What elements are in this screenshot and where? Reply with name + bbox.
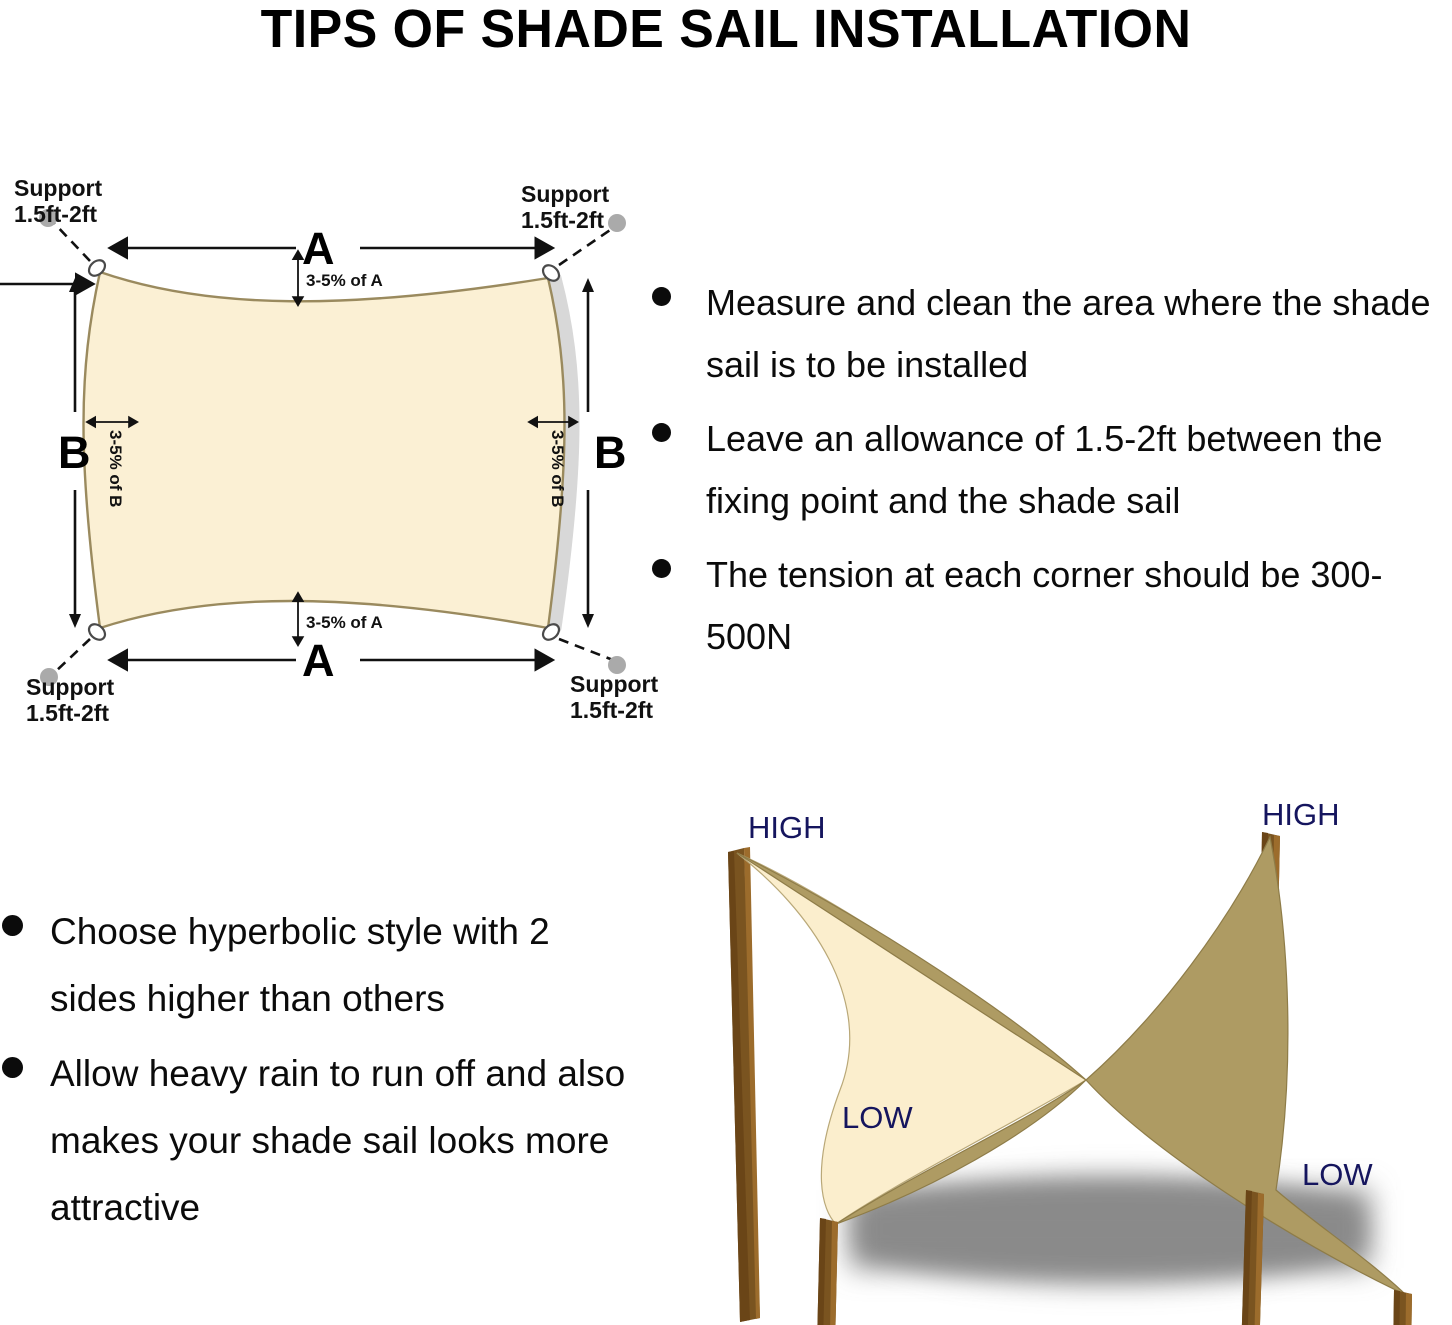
label-high-left: HIGH bbox=[748, 810, 826, 845]
bullet-icon bbox=[2, 1057, 23, 1078]
hyperbolic-tips-list: Choose hyperbolic style with 2 sides hig… bbox=[2, 898, 632, 1249]
support-label-top-left: Support 1.5ft-2ft bbox=[14, 175, 102, 227]
svg-text:3-5% of B: 3-5% of B bbox=[548, 430, 567, 507]
svg-text:1.5ft-2ft: 1.5ft-2ft bbox=[570, 697, 653, 723]
support-label-bottom-left: Support 1.5ft-2ft bbox=[26, 674, 114, 726]
bullet-icon bbox=[2, 915, 23, 936]
infographic-page: TIPS OF SHADE SAIL INSTALLATION bbox=[0, 0, 1452, 1325]
list-item-text: The tension at each corner should be 300… bbox=[652, 544, 1452, 668]
list-item: Measure and clean the area where the sha… bbox=[652, 272, 1452, 396]
bullet-icon bbox=[652, 559, 671, 578]
list-item-text: Choose hyperbolic style with 2 sides hig… bbox=[2, 898, 632, 1032]
list-item-text: Measure and clean the area where the sha… bbox=[652, 272, 1452, 396]
post-low-right bbox=[1390, 1290, 1412, 1325]
list-item: The tension at each corner should be 300… bbox=[652, 544, 1452, 668]
svg-text:B: B bbox=[594, 427, 627, 478]
dimension-b-right: B bbox=[582, 278, 627, 628]
svg-text:3-5% of B: 3-5% of B bbox=[106, 430, 125, 507]
bullet-icon bbox=[652, 423, 671, 442]
support-label-top-right: Support 1.5ft-2ft bbox=[521, 181, 609, 233]
svg-text:Support: Support bbox=[14, 175, 102, 201]
list-item: Choose hyperbolic style with 2 sides hig… bbox=[2, 898, 632, 1032]
post-high-left bbox=[728, 847, 760, 1322]
svg-text:A: A bbox=[302, 223, 335, 274]
svg-text:1.5ft-2ft: 1.5ft-2ft bbox=[521, 207, 604, 233]
dimension-a-top: A bbox=[128, 223, 537, 274]
hyperbolic-shade-sail-illustration: HIGH HIGH LOW LOW bbox=[690, 790, 1452, 1325]
sail-body bbox=[84, 272, 565, 628]
svg-text:A: A bbox=[302, 635, 335, 686]
svg-text:3-5% of A: 3-5% of A bbox=[306, 613, 383, 632]
post-low-left bbox=[816, 1218, 838, 1325]
svg-text:Support: Support bbox=[570, 671, 658, 697]
list-item: Allow heavy rain to run off and also mak… bbox=[2, 1040, 632, 1241]
svg-text:3-5% of A: 3-5% of A bbox=[306, 271, 383, 290]
svg-text:Support: Support bbox=[26, 674, 114, 700]
tolerance-a-bottom: 3-5% of A bbox=[298, 602, 383, 638]
svg-text:B: B bbox=[58, 427, 91, 478]
bullet-icon bbox=[652, 287, 671, 306]
list-item-text: Allow heavy rain to run off and also mak… bbox=[2, 1040, 632, 1241]
label-low-right: LOW bbox=[1302, 1157, 1373, 1192]
svg-text:Support: Support bbox=[521, 181, 609, 207]
dimension-a-bottom: A bbox=[128, 635, 537, 686]
list-item-text: Leave an allowance of 1.5-2ft between th… bbox=[652, 408, 1452, 532]
label-low-left: LOW bbox=[842, 1100, 913, 1135]
list-item: Leave an allowance of 1.5-2ft between th… bbox=[652, 408, 1452, 532]
svg-text:1.5ft-2ft: 1.5ft-2ft bbox=[26, 700, 109, 726]
dimension-b-left: B bbox=[0, 278, 91, 628]
support-label-bottom-right: Support 1.5ft-2ft bbox=[570, 671, 658, 723]
svg-text:1.5ft-2ft: 1.5ft-2ft bbox=[14, 201, 97, 227]
shade-sail-dimension-diagram: Support 1.5ft-2ft Support 1.5ft-2ft Supp… bbox=[0, 160, 660, 740]
page-title: TIPS OF SHADE SAIL INSTALLATION bbox=[29, 0, 1423, 62]
installation-tips-list: Measure and clean the area where the sha… bbox=[652, 272, 1452, 680]
label-high-right: HIGH bbox=[1262, 797, 1340, 832]
